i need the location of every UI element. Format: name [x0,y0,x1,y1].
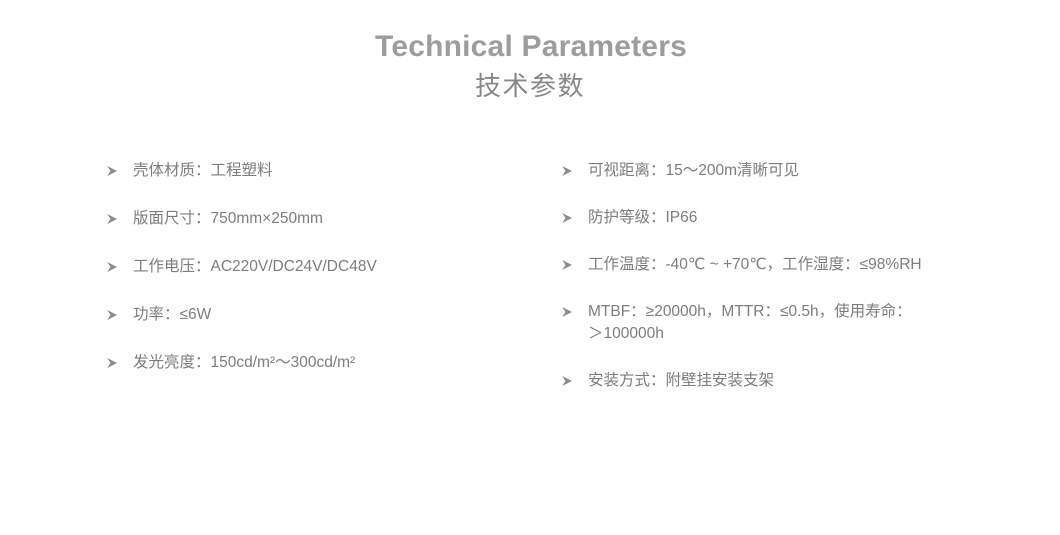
specifications-section: 壳体材质：工程塑料 版面尺寸：750mm×250mm 工作电压：AC220V/D… [0,160,1060,420]
arrow-bullet-icon [105,160,119,182]
spec-text-mtbf-line2: ＞100000h [588,323,1030,345]
spec-item-working-voltage: 工作电压：AC220V/DC24V/DC48V [105,256,525,278]
spec-text-mtbf-mttr-lifetime: MTBF：≥20000h，MTTR：≤0.5h，使用寿命：＞100000h [588,301,1030,345]
technical-parameters-slide: Technical Parameters 技术参数 壳体材质：工程塑料 版面 [0,0,1060,535]
spec-text-panel-size: 版面尺寸：750mm×250mm [133,208,525,230]
spec-item-installation-method: 安装方式：附壁挂安装支架 [560,370,1030,392]
arrow-bullet-icon [560,301,574,323]
spec-item-protection-rating: 防护等级：IP66 [560,207,1030,229]
arrow-bullet-icon [105,256,119,278]
spec-item-panel-size: 版面尺寸：750mm×250mm [105,208,525,230]
spec-column-right: 可视距离：15～200m清晰可见 防护等级：IP66 工作温度：-40℃ ~ +… [560,160,1030,417]
spec-text-installation-method: 安装方式：附壁挂安装支架 [588,370,1030,392]
spec-item-viewing-distance: 可视距离：15～200m清晰可见 [560,160,1030,182]
spec-item-luminance: 发光亮度：150cd/m²～300cd/m² [105,352,525,374]
page-heading: Technical Parameters 技术参数 [0,28,1060,103]
arrow-bullet-icon [560,207,574,229]
spec-text-temperature-humidity: 工作温度：-40℃ ~ +70℃，工作湿度：≤98%RH [588,254,1030,276]
arrow-bullet-icon [560,254,574,276]
spec-item-housing-material: 壳体材质：工程塑料 [105,160,525,182]
spec-text-power: 功率：≤6W [133,304,525,326]
page-title-chinese: 技术参数 [0,70,1060,104]
spec-column-left: 壳体材质：工程塑料 版面尺寸：750mm×250mm 工作电压：AC220V/D… [105,160,525,400]
arrow-bullet-icon [105,304,119,326]
arrow-bullet-icon [105,208,119,230]
spec-item-temperature-humidity: 工作温度：-40℃ ~ +70℃，工作湿度：≤98%RH [560,254,1030,276]
spec-text-working-voltage: 工作电压：AC220V/DC24V/DC48V [133,256,525,278]
spec-text-viewing-distance: 可视距离：15～200m清晰可见 [588,160,1030,182]
arrow-bullet-icon [560,160,574,182]
spec-text-luminance: 发光亮度：150cd/m²～300cd/m² [133,352,525,374]
page-title-english: Technical Parameters [0,28,1060,66]
spec-text-protection-rating: 防护等级：IP66 [588,207,1030,229]
spec-item-power: 功率：≤6W [105,304,525,326]
spec-text-mtbf-line1: MTBF：≥20000h，MTTR：≤0.5h，使用寿命： [588,303,912,320]
spec-item-mtbf-mttr-lifetime: MTBF：≥20000h，MTTR：≤0.5h，使用寿命：＞100000h [560,301,1030,345]
spec-text-housing-material: 壳体材质：工程塑料 [133,160,525,182]
arrow-bullet-icon [560,370,574,392]
arrow-bullet-icon [105,352,119,374]
